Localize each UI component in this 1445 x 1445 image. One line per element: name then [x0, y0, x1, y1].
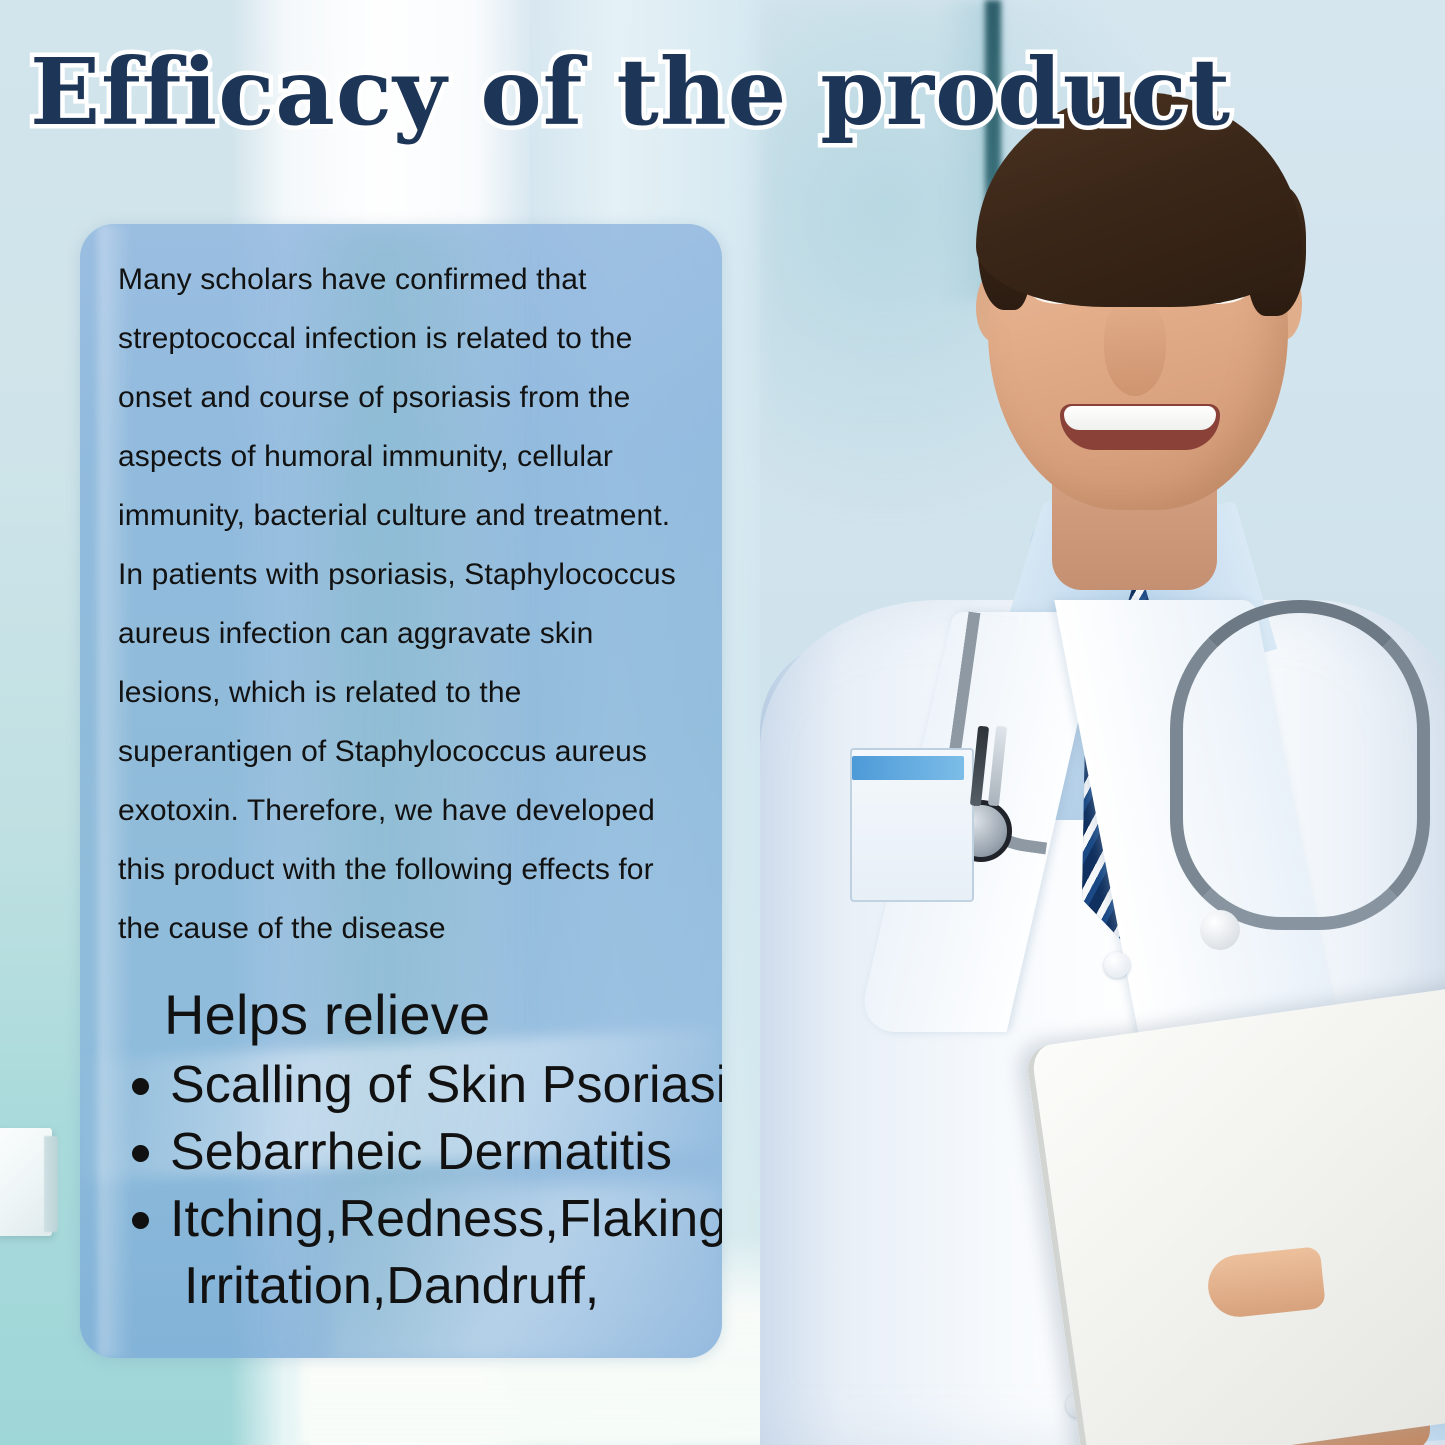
wall-mounted-box-side: [44, 1136, 58, 1232]
pocket-blue-tag: [852, 756, 964, 780]
list-item: Scalling of Skin Psoriasis: [118, 1052, 710, 1119]
smiling-mouth: [1060, 404, 1220, 450]
content-panel: Many scholars have confirmed that strept…: [80, 224, 722, 1358]
list-item: Itching,Redness,Flaking: [118, 1186, 710, 1253]
stethoscope-tube: [1170, 600, 1430, 930]
lab-coat-button-upper: [1104, 952, 1130, 978]
panel-content: Many scholars have confirmed that strept…: [80, 224, 722, 1320]
doctor-photo: [700, 0, 1445, 1445]
list-item: Sebarrheic Dermatitis: [118, 1119, 710, 1186]
list-item-continuation: Irritation,Dandruff,: [118, 1253, 710, 1320]
bullet-dot-icon: [132, 1078, 149, 1095]
list-item-label: Scalling of Skin Psoriasis: [170, 1056, 722, 1114]
description-paragraph: Many scholars have confirmed that strept…: [118, 250, 698, 958]
laptop-edge: [1025, 976, 1445, 1445]
helps-relieve-heading: Helps relieve: [164, 984, 710, 1046]
teeth: [1064, 406, 1216, 430]
product-efficacy-poster: Efficacy of the product Many scholars ha…: [0, 0, 1445, 1445]
benefits-list: Scalling of Skin Psoriasis Sebarrheic De…: [118, 1052, 710, 1253]
bullet-dot-icon: [132, 1145, 149, 1162]
bullet-dot-icon: [132, 1212, 149, 1229]
nose: [1104, 300, 1166, 396]
list-item-label: Sebarrheic Dermatitis: [170, 1123, 672, 1181]
list-item-label: Itching,Redness,Flaking: [170, 1190, 722, 1248]
page-title: Efficacy of the product: [30, 44, 1231, 141]
stethoscope-bell: [1200, 910, 1240, 950]
